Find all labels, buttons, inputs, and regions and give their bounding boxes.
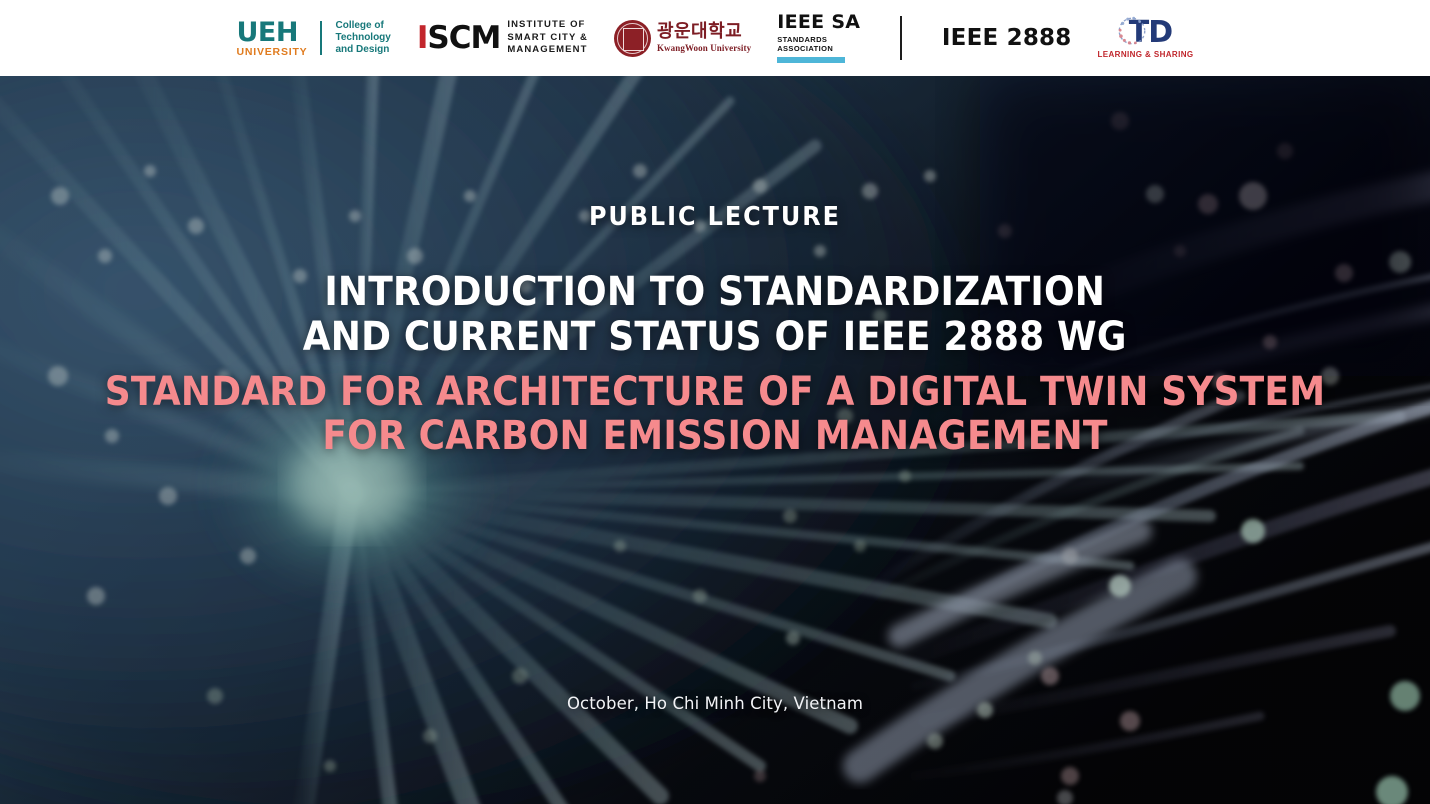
td-tagline: LEARNING & SHARING — [1097, 51, 1193, 59]
subtitle-line-1: STANDARD FOR ARCHITECTURE OF A DIGITAL T… — [105, 370, 1325, 415]
iscm-logo: ISCM INSTITUTE OF SMART CITY & MANAGEMEN… — [417, 19, 588, 57]
ueh-divider — [320, 21, 322, 55]
ieee-sa-accent-bar — [777, 57, 845, 63]
event-location-date: October, Ho Chi Minh City, Vietnam — [0, 694, 1430, 713]
ueh-tagline-line3: and Design — [335, 44, 390, 56]
iscm-tagline: INSTITUTE OF SMART CITY & MANAGEMENT — [507, 19, 588, 57]
ieee-2888-logo: IEEE 2888 — [942, 25, 1072, 51]
kicker-label: PUBLIC LECTURE — [589, 202, 841, 232]
iscm-tagline-line1: INSTITUTE OF — [507, 19, 588, 32]
ieee-sa-subtitle-line1: STANDARDS — [777, 35, 833, 44]
ieee-sa-logo: IEEE SA STANDARDS ASSOCIATION — [777, 13, 860, 64]
kwangwoon-english-name: KwangWoon University — [657, 44, 751, 53]
ueh-tagline-line1: College of — [335, 20, 390, 32]
title-line-1: INTRODUCTION TO STANDARDIZATION — [303, 270, 1127, 315]
td-logo: TD LEARNING & SHARING — [1097, 18, 1193, 59]
kwangwoon-logo: 광운대학교 KwangWoon University — [614, 20, 751, 57]
ueh-logo-main: UEH — [236, 19, 297, 46]
iscm-wordmark: ISCM — [417, 23, 500, 54]
td-wordmark-row: TD — [1119, 18, 1172, 48]
presentation-title-slide: UEH UNIVERSITY College of Technology and… — [0, 0, 1430, 804]
kwangwoon-seal-icon — [614, 20, 651, 57]
logo-bar-divider — [900, 16, 902, 60]
ueh-logo: UEH UNIVERSITY College of Technology and… — [236, 19, 390, 58]
kwangwoon-wordmark: 광운대학교 KwangWoon University — [657, 23, 751, 53]
ueh-tagline: College of Technology and Design — [335, 20, 390, 55]
kwangwoon-korean-name: 광운대학교 — [657, 23, 751, 41]
ieee-sa-wordmark: IEEE SA — [777, 13, 860, 32]
ueh-logo-sub: UNIVERSITY — [236, 47, 307, 58]
ueh-tagline-line2: Technology — [335, 32, 390, 44]
ieee-sa-subtitle: STANDARDS ASSOCIATION — [777, 35, 833, 54]
ueh-wordmark: UEH UNIVERSITY — [236, 19, 307, 58]
iscm-letter-i: I — [417, 20, 428, 56]
slide-content: PUBLIC LECTURE INTRODUCTION TO STANDARDI… — [0, 76, 1430, 804]
subtitle-line-2: FOR CARBON EMISSION MANAGEMENT — [105, 414, 1325, 459]
page-subtitle: STANDARD FOR ARCHITECTURE OF A DIGITAL T… — [105, 370, 1325, 460]
sponsor-logo-bar: UEH UNIVERSITY College of Technology and… — [0, 0, 1430, 76]
ieee-sa-subtitle-line2: ASSOCIATION — [777, 44, 833, 53]
iscm-tagline-line2: SMART CITY & — [507, 32, 588, 45]
wreath-icon — [1115, 14, 1149, 48]
iscm-tagline-line3: MANAGEMENT — [507, 44, 588, 57]
title-line-2: AND CURRENT STATUS OF IEEE 2888 WG — [303, 315, 1127, 360]
iscm-letters-scm: SCM — [427, 20, 500, 56]
page-title: INTRODUCTION TO STANDARDIZATION AND CURR… — [303, 270, 1127, 360]
ieee-2888-label: IEEE 2888 — [942, 25, 1072, 51]
